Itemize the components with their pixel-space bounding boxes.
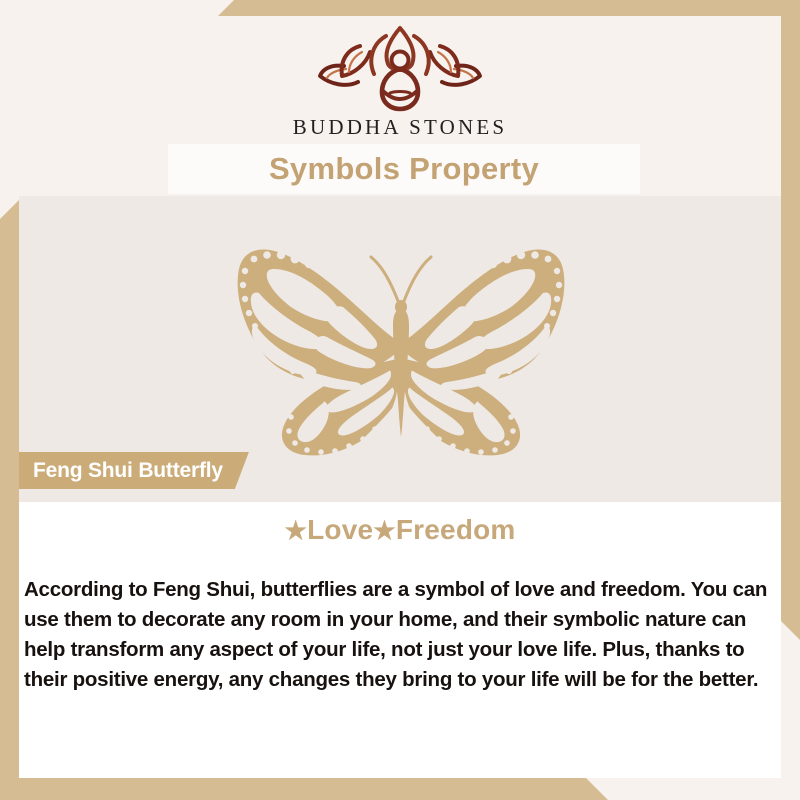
star-icon-left: ★ (284, 517, 307, 545)
poster-canvas: BUDDHA STONES Symbols Property (0, 0, 800, 800)
brand-logo: BUDDHA STONES (0, 22, 800, 140)
category-ribbon: Feng Shui Butterfly (19, 452, 249, 489)
category-label: Feng Shui Butterfly (33, 459, 223, 483)
butterfly-icon (219, 231, 583, 459)
description-paragraph: According to Feng Shui, butterflies are … (24, 575, 780, 695)
brand-name: BUDDHA STONES (0, 115, 800, 140)
keyword-love: Love (307, 514, 373, 545)
star-icon-mid: ★ (373, 517, 396, 545)
gold-band-bottom (0, 778, 608, 800)
gold-band-left (0, 200, 19, 800)
butterfly-illustration (219, 231, 583, 459)
section-title-band: Symbols Property (168, 144, 640, 194)
keywords-heading: ★Love★Freedom (0, 514, 800, 546)
page-title: Symbols Property (269, 151, 539, 187)
gold-band-top (218, 0, 800, 16)
lotus-meditation-figure-icon (300, 22, 500, 114)
keyword-freedom: Freedom (396, 514, 516, 545)
